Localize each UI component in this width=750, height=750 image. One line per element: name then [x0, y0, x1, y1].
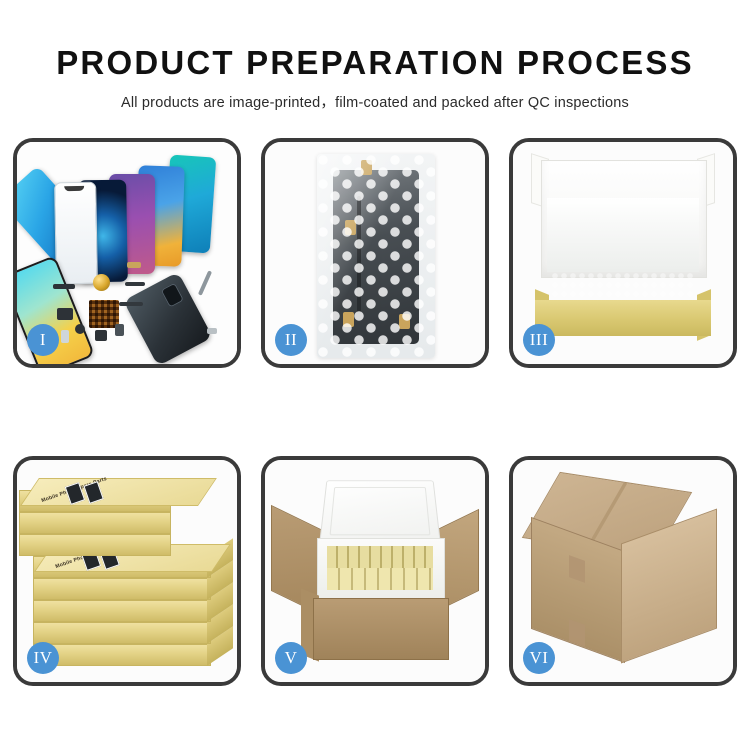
bubble-wrap-bag	[317, 154, 435, 358]
coil-part	[93, 274, 110, 291]
stacked-box	[19, 534, 171, 556]
small-part	[57, 308, 73, 320]
small-part	[95, 330, 107, 341]
small-part	[115, 324, 124, 336]
yellow-boxes-inside	[327, 546, 433, 590]
small-part	[53, 284, 75, 289]
stacked-box	[19, 512, 171, 534]
stacked-box	[33, 600, 211, 622]
small-part	[127, 262, 141, 268]
step-panel-4: Mobile Phone Spare Parts Mobile Phone Sp…	[13, 456, 241, 686]
stacked-box-labeled: Mobile Phone Spare Parts	[19, 490, 171, 512]
white-foam-sheet	[547, 198, 699, 272]
yellow-box-body	[535, 300, 711, 336]
step-panel-1: I	[13, 138, 241, 368]
bubble-wrapped-contents	[551, 272, 695, 302]
page-subtitle: All products are image-printed，film-coat…	[0, 82, 750, 112]
step-panel-6: VI	[509, 456, 737, 686]
step-badge-1: I	[27, 324, 59, 356]
step-panel-2: II	[261, 138, 489, 368]
step-badge-4: IV	[27, 642, 59, 674]
box-top-face: Mobile Phone Spare Parts	[20, 478, 217, 506]
carton-front	[313, 598, 449, 660]
step-panel-3: III	[509, 138, 737, 368]
stacked-box	[33, 644, 211, 666]
step-panel-5: V	[261, 456, 489, 686]
small-part	[207, 328, 217, 334]
stacked-box-labeled: Mobile Phone Spare Parts	[33, 556, 211, 578]
page-title: PRODUCT PREPARATION PROCESS	[0, 0, 750, 82]
page-header: PRODUCT PREPARATION PROCESS All products…	[0, 0, 750, 112]
box-stack: Mobile Phone Spare Parts Mobile Phone Sp…	[23, 476, 231, 672]
step-badge-2: II	[275, 324, 307, 356]
stacked-box	[33, 622, 211, 644]
stacked-box	[33, 578, 211, 600]
step-badge-3: III	[523, 324, 555, 356]
foam-lid	[319, 480, 441, 543]
label-screen-image	[83, 481, 103, 504]
plastic-sheen	[317, 154, 435, 358]
label-spec-lines	[182, 545, 216, 572]
flex-cable	[119, 302, 143, 306]
small-part	[75, 324, 85, 334]
label-spec-lines	[168, 479, 202, 506]
flex-cable	[125, 282, 145, 286]
phone-front-glass	[54, 182, 98, 285]
small-part	[61, 330, 69, 343]
process-steps-grid: I II III	[13, 138, 737, 686]
step-badge-6: VI	[523, 642, 555, 674]
step-badge-5: V	[275, 642, 307, 674]
